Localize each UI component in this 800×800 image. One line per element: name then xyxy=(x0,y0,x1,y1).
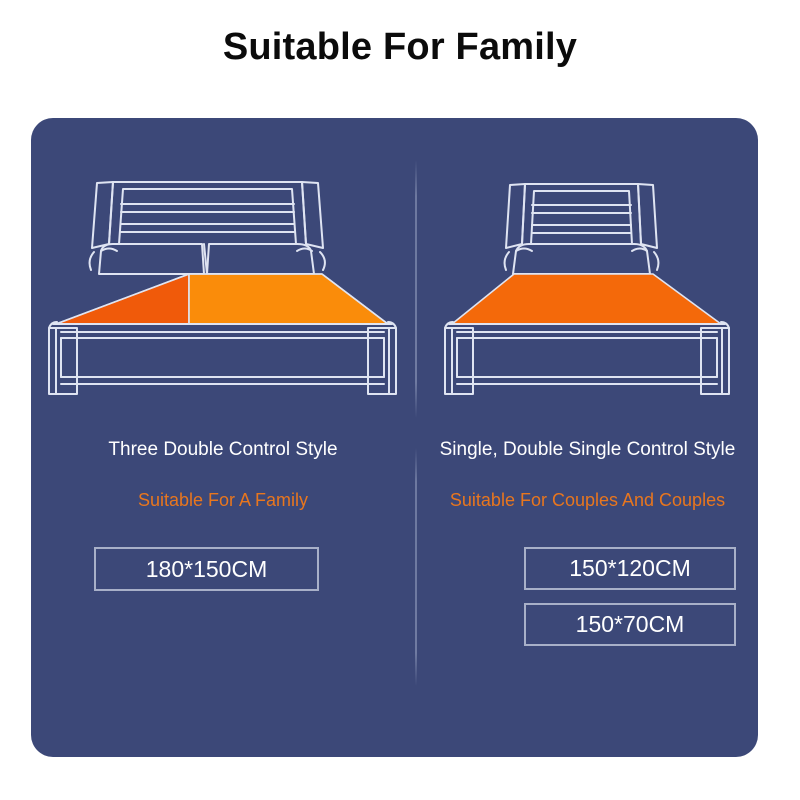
option-column-double: Three Double Control Style Suitable For … xyxy=(31,118,415,757)
double-bed-illustration xyxy=(47,152,399,412)
size-option-150x70[interactable]: 150*70CM xyxy=(524,603,736,646)
comparison-panel: Three Double Control Style Suitable For … xyxy=(31,118,758,757)
double-bed-suitability-label: Suitable For A Family xyxy=(31,490,415,511)
single-bed-style-label: Single, Double Single Control Style xyxy=(417,439,758,461)
page-title: Suitable For Family xyxy=(0,26,800,69)
size-option-180x150[interactable]: 180*150CM xyxy=(94,547,319,591)
single-bed-illustration xyxy=(429,152,749,412)
single-bed-suitability-label: Suitable For Couples And Couples xyxy=(417,490,758,511)
double-bed-style-label: Three Double Control Style xyxy=(31,439,415,461)
size-option-150x120[interactable]: 150*120CM xyxy=(524,547,736,590)
option-column-single: Single, Double Single Control Style Suit… xyxy=(417,118,758,757)
